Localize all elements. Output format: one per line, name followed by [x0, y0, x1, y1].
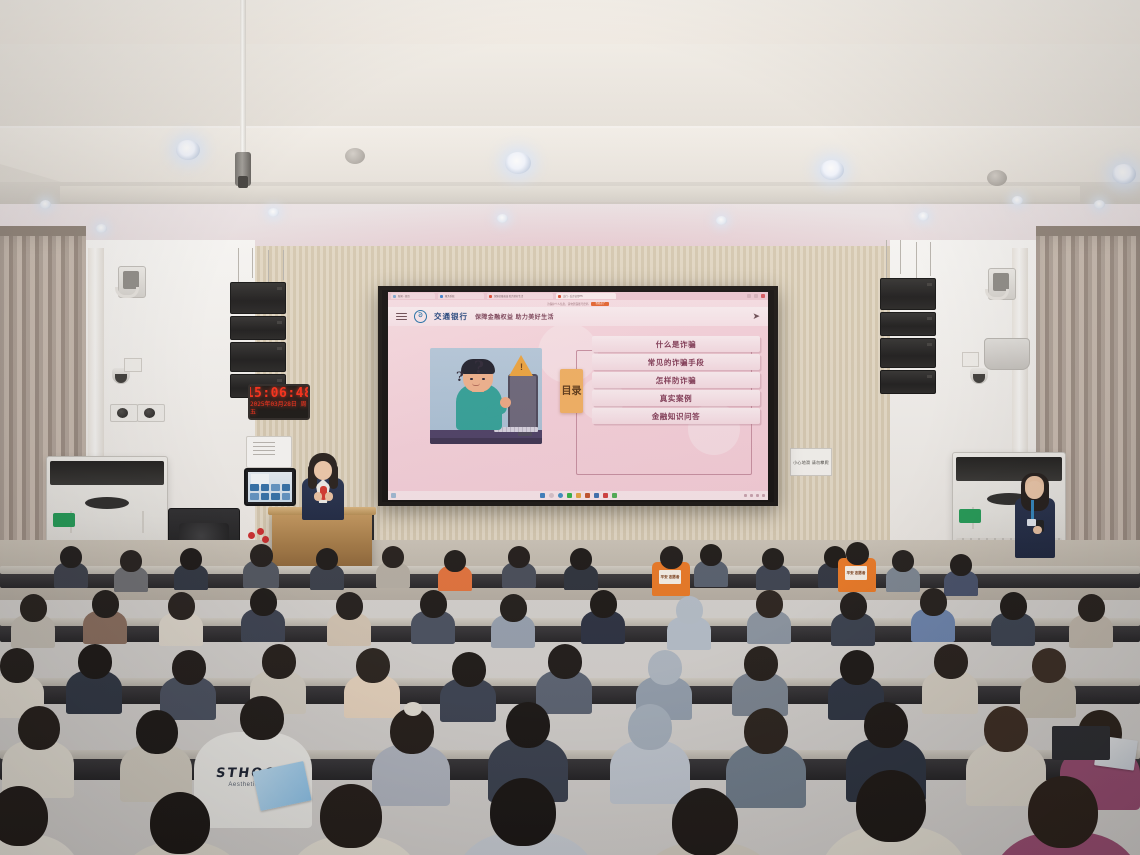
av-panel-button[interactable] — [250, 493, 259, 500]
speaker-wire — [268, 250, 269, 284]
slide-header: ᘒ 交通银行 保障金融权益 助力美好生活 ➤ — [388, 307, 768, 326]
audience-head — [92, 590, 119, 618]
ceiling-speaker — [345, 148, 365, 164]
volunteer-vest-text: 平安 志愿者 — [847, 571, 866, 575]
toc-item-label: 什么是诈骗 — [656, 339, 697, 350]
audience-head — [172, 650, 206, 685]
wall-phone-left[interactable] — [118, 266, 146, 298]
media-player-icon[interactable] — [594, 493, 599, 498]
ceiling-downlight-small — [96, 224, 107, 233]
audience-head — [168, 592, 195, 620]
presenter-face — [314, 461, 332, 480]
hamburger-menu-icon[interactable] — [396, 313, 407, 321]
windows-start-icon[interactable] — [540, 493, 545, 498]
volume-icon[interactable] — [750, 494, 754, 498]
audience-head — [570, 548, 592, 570]
ceiling-downlight — [820, 160, 844, 180]
audience-head — [628, 704, 672, 750]
right-curtain-rod — [1036, 226, 1140, 236]
ceiling-speaker — [987, 170, 1007, 186]
av-panel-button[interactable] — [261, 493, 270, 500]
audience-head — [382, 546, 404, 568]
av-panel-button[interactable] — [271, 493, 280, 500]
file-explorer-icon[interactable] — [576, 493, 581, 498]
toc-item-label: 真实案例 — [660, 393, 692, 404]
audience-head — [452, 652, 486, 687]
av-panel-button[interactable] — [261, 484, 270, 491]
audience-head — [864, 702, 908, 748]
ppt-icon[interactable] — [585, 493, 590, 498]
audience-head — [676, 596, 703, 624]
wall-phone-right[interactable] — [988, 268, 1016, 300]
speaker-wire — [930, 242, 931, 276]
toc-item[interactable]: 什么是诈骗 — [592, 336, 760, 352]
speaker-cabinet — [880, 370, 936, 394]
audience-head — [490, 778, 556, 846]
tab-favicon-icon — [440, 295, 443, 298]
browser-notice-text: 为保护个人信息，请勿泄露账号密码 — [547, 302, 589, 306]
speaker-cabinet — [230, 282, 286, 314]
speaker-wire — [238, 248, 239, 284]
toc-item[interactable]: 真实案例 — [592, 390, 760, 406]
ceiling-mid-plane — [0, 44, 1140, 130]
wall-outlet-left — [124, 358, 142, 372]
desktop-shortcut-icon[interactable] — [391, 493, 396, 498]
confused-man-at-computer-illustration: ? ? ! — [430, 348, 542, 444]
av-panel-button-row[interactable] — [250, 493, 290, 500]
audience-head — [846, 542, 869, 565]
audience-head — [1000, 592, 1027, 620]
toc-item[interactable]: 怎样防诈骗 — [592, 372, 760, 388]
av-panel-button[interactable] — [282, 484, 291, 491]
windows-taskbar[interactable] — [388, 491, 768, 500]
audience-head — [840, 592, 867, 620]
volunteer-vest-label: 平安 志愿者 — [845, 566, 867, 580]
speaker-wire — [283, 250, 284, 280]
toc-item-label: 金融知识问答 — [652, 411, 701, 422]
question-mark-icon: ? — [456, 370, 464, 385]
speaker-cabinet — [880, 312, 936, 336]
tab-favicon-icon — [558, 295, 561, 298]
wall-speaker-left-b — [137, 404, 165, 422]
presenter-hand — [325, 492, 333, 501]
audience-head — [420, 590, 447, 618]
speaker-cabinet — [230, 342, 286, 372]
audience-head — [700, 544, 722, 566]
audience-head — [120, 550, 142, 572]
audience-head — [508, 546, 530, 568]
audience-head — [762, 548, 784, 570]
volunteer-vest-text: 平安 志愿者 — [661, 575, 680, 579]
toc-item[interactable]: 常见的诈骗手段 — [592, 354, 760, 370]
lecture-hall-photo: 小心地滑 请勿攀爬 15:06:48 2025年03月28日 周五 — [0, 0, 1140, 855]
audience-head — [548, 644, 582, 679]
audience-head — [320, 784, 382, 848]
audience-head — [0, 648, 34, 683]
projection-screen: 新闻 - 首页 教务系统 保障金融权益 助力美好生活 交行 - 反诈宣传H5 — [378, 286, 778, 506]
toc-item-list: 什么是诈骗 常见的诈骗手段 怎样防诈骗 真实案例 金融知识问答 — [592, 336, 760, 424]
toc-label-text: 目录 — [562, 386, 582, 397]
audience-head — [20, 594, 47, 622]
audience-head — [856, 770, 926, 842]
ceiling-downlight — [1112, 164, 1136, 184]
tab-favicon-icon — [489, 295, 492, 298]
illustration-person-hand — [500, 397, 511, 408]
audience-head — [920, 588, 947, 616]
audience-head — [356, 648, 390, 683]
audience-head — [950, 554, 972, 576]
ime-icon[interactable] — [762, 494, 766, 498]
av-panel-button[interactable] — [250, 484, 259, 491]
audience-head — [78, 644, 112, 679]
audience-head — [744, 646, 778, 681]
browser-notice-bar: 为保护个人信息，请勿泄露账号密码 我知道了 — [388, 300, 768, 307]
av-panel-screen[interactable] — [248, 472, 292, 502]
ceiling-camera-icon — [235, 152, 251, 186]
browser-tab-label: 教务系统 — [445, 294, 455, 298]
bank-of-communications-logo: ᘒ — [414, 310, 427, 323]
audience-head — [590, 590, 617, 618]
window-controls[interactable] — [747, 294, 765, 298]
audience-head — [1028, 776, 1098, 848]
browser-tab-active[interactable]: 交行 - 反诈宣传H5 — [556, 293, 616, 299]
audience-area: 平安 志愿者 平安 志愿者 — [0, 520, 1140, 855]
line-array-speaker-left — [230, 282, 284, 400]
left-curtain-rod — [0, 226, 86, 236]
presenter-at-podium — [296, 456, 350, 518]
av-panel-button[interactable] — [282, 493, 291, 500]
speaker-wire — [886, 240, 887, 278]
audience-head — [180, 548, 202, 570]
ceiling-downlight-small — [1012, 196, 1023, 205]
panel-vent-lines — [253, 442, 275, 458]
battery-icon[interactable] — [756, 494, 760, 498]
audience-head — [506, 702, 550, 748]
audience-head — [984, 706, 1028, 752]
audience-head — [60, 546, 82, 568]
ceiling-downlight-small — [1094, 200, 1105, 209]
presentation-slide: ᘒ 交通银行 保障金融权益 助力美好生活 ➤ — [388, 307, 768, 491]
audience-head — [444, 550, 466, 572]
wall-sign-right: 小心地滑 请勿攀爬 — [790, 448, 832, 476]
browser-tab-label: 交行 - 反诈宣传H5 — [563, 294, 583, 298]
audience-head — [756, 590, 783, 618]
audience-head — [892, 550, 914, 572]
minimize-icon[interactable] — [747, 294, 751, 298]
audience-head — [136, 710, 178, 754]
toc-item[interactable]: 金融知识问答 — [592, 408, 760, 424]
av-touch-control-panel[interactable] — [244, 468, 296, 506]
audience-head — [934, 644, 968, 679]
wechat-icon[interactable] — [567, 493, 572, 498]
maximize-icon[interactable] — [754, 294, 758, 298]
speaker-cabinet — [880, 338, 936, 368]
av-panel-button[interactable] — [271, 484, 280, 491]
toc-item-label: 怎样防诈骗 — [656, 375, 697, 386]
audience-head — [262, 644, 296, 679]
staff-face — [1026, 481, 1043, 499]
browser-tab[interactable]: 教务系统 — [438, 293, 484, 299]
audience-head — [250, 544, 273, 567]
illustration-monitor — [508, 374, 538, 430]
audience-head — [744, 708, 788, 754]
projection-screen-surface: 新闻 - 首页 教务系统 保障金融权益 助力美好生活 交行 - 反诈宣传H5 — [382, 290, 774, 502]
hair-clip-icon — [404, 702, 422, 716]
edge-browser-icon[interactable] — [558, 493, 563, 498]
illustration-person-eye — [470, 378, 473, 381]
wall-outlet-right — [962, 352, 979, 367]
ceiling-screen-glow — [180, 200, 1000, 252]
ceiling-downlight — [505, 152, 531, 174]
illustration-desk-front — [430, 438, 542, 444]
browser-notice-button[interactable]: 我知道了 — [591, 302, 609, 306]
wall-speaker-left-a — [110, 404, 138, 422]
wps-icon[interactable] — [612, 493, 617, 498]
speaker-wire — [252, 248, 253, 278]
ac-logo — [85, 497, 129, 509]
ac-vent — [50, 461, 164, 485]
wall-dispenser-right — [984, 338, 1030, 370]
browser-tab[interactable]: 新闻 - 首页 — [391, 293, 435, 299]
led-wall-clock: 15:06:48 2025年03月28日 周五 — [248, 384, 310, 420]
toc-item-label: 常见的诈骗手段 — [648, 357, 705, 368]
speaker-cabinet — [230, 316, 286, 340]
ceiling-soffit-face — [0, 128, 1140, 186]
audience-head — [240, 696, 284, 740]
audience-head — [1032, 648, 1066, 683]
presenter-hand — [314, 492, 322, 501]
ceiling-downlight-small — [918, 212, 929, 221]
close-icon[interactable] — [761, 294, 765, 298]
led-clock-time: 15:06:48 — [248, 387, 310, 401]
audience-head — [1078, 594, 1105, 622]
browser-tab[interactable]: 保障金融权益 助力美好生活 — [487, 293, 553, 299]
line-array-speaker-right — [880, 278, 934, 396]
audience-head — [648, 650, 682, 685]
slide-table-of-contents: 目录 什么是诈骗 常见的诈骗手段 怎样防诈骗 真实案例 金融知识问答 — [560, 336, 760, 485]
audience-head — [336, 592, 363, 620]
question-mark-icon: ? — [474, 358, 484, 378]
audience-head — [18, 706, 60, 750]
av-panel-button-row[interactable] — [250, 484, 290, 491]
browser-tab-label: 保障金融权益 助力美好生活 — [494, 294, 523, 298]
audience-head — [840, 650, 874, 685]
audience-head — [660, 546, 683, 569]
taskbar-tray[interactable] — [744, 494, 766, 498]
laptop[interactable] — [1052, 726, 1110, 760]
audience-head — [500, 594, 527, 622]
paper-plane-icon[interactable]: ➤ — [752, 311, 760, 322]
audience-head — [316, 548, 338, 570]
speaker-cabinet — [880, 278, 936, 310]
ceiling-downlight — [176, 140, 200, 160]
browser-tab-label: 新闻 - 首页 — [398, 294, 410, 298]
audience-head — [250, 588, 277, 616]
led-clock-date: 2025年03月28日 周五 — [250, 401, 308, 417]
ceiling-downlight-small — [716, 216, 727, 225]
ceiling-camera-pole — [240, 0, 246, 176]
speaker-wire — [916, 242, 917, 280]
pdf-icon[interactable] — [603, 493, 608, 498]
search-icon[interactable] — [549, 493, 554, 498]
browser-tab-bar[interactable]: 新闻 - 首页 教务系统 保障金融权益 助力美好生活 交行 - 反诈宣传H5 — [388, 292, 768, 300]
ceiling-downlight-small — [268, 208, 279, 217]
network-icon[interactable] — [744, 494, 748, 498]
wall-sign-right-text: 小心地滑 请勿攀爬 — [793, 460, 829, 465]
volunteer-vest-label: 平安 志愿者 — [659, 570, 681, 584]
warning-exclamation-icon: ! — [520, 362, 523, 372]
audience-head — [150, 792, 210, 854]
ceiling-downlight-small — [40, 200, 51, 209]
slide-body: ? ? ! 目录 什么是诈骗 常见的诈骗手段 — [388, 326, 768, 491]
staff-lanyard — [1031, 500, 1034, 520]
taskbar-left-group[interactable] — [391, 493, 396, 498]
tab-favicon-icon — [393, 295, 396, 298]
bank-name-label: 交通银行 — [434, 311, 468, 322]
audience-head — [672, 788, 738, 855]
speaker-wire — [900, 240, 901, 274]
ceiling-upper-plane — [0, 0, 1140, 50]
wall-control-enclosure — [246, 436, 292, 468]
ceiling-downlight-small — [497, 214, 508, 223]
toc-label-badge: 目录 — [560, 369, 583, 413]
browser-window[interactable]: 新闻 - 首页 教务系统 保障金融权益 助力美好生活 交行 - 反诈宣传H5 — [388, 292, 768, 500]
slide-slogan: 保障金融权益 助力美好生活 — [475, 312, 554, 321]
